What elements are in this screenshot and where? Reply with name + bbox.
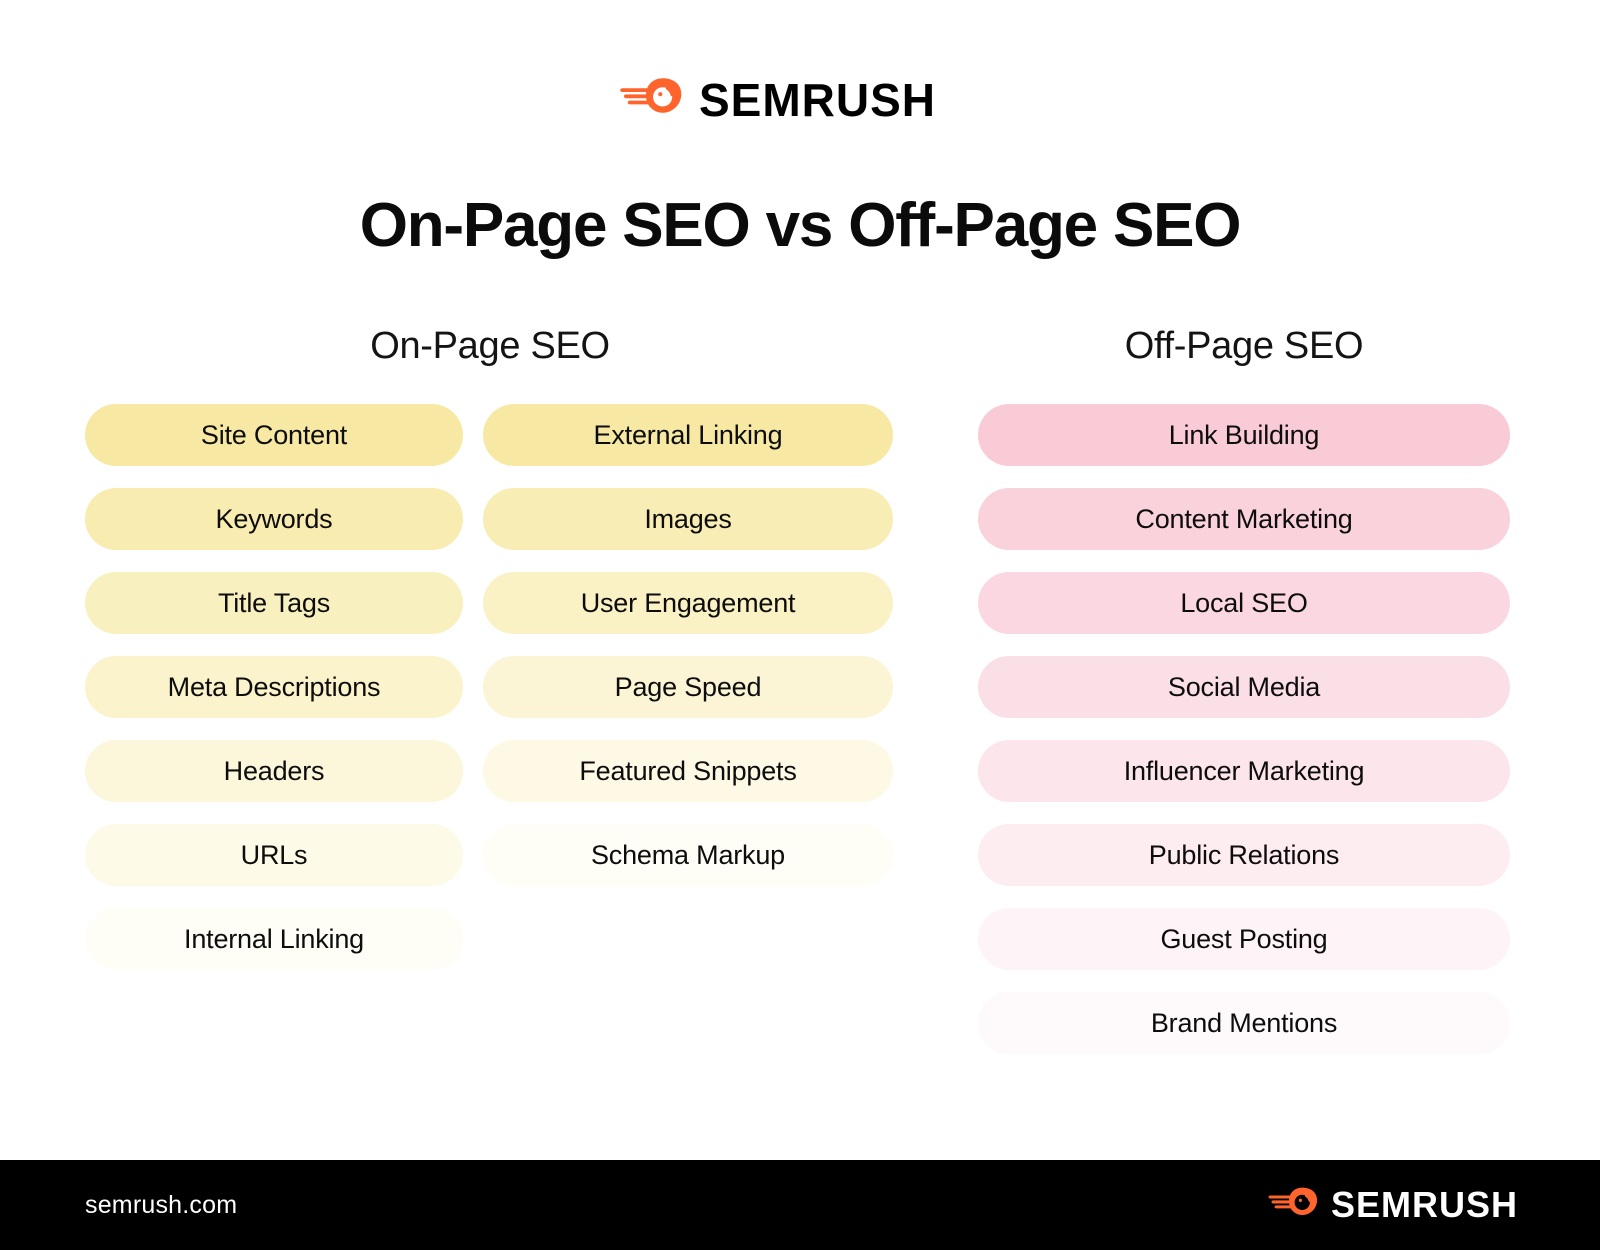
pill-label: Local SEO <box>1180 588 1307 619</box>
semrush-wordmark-header: SEMRUSH <box>699 77 936 123</box>
offpage-pill-column: Link BuildingContent MarketingLocal SEOS… <box>978 404 1510 1054</box>
pill-item: Page Speed <box>483 656 893 718</box>
pill-item: Title Tags <box>85 572 463 634</box>
pill-item: Public Relations <box>978 824 1510 886</box>
pill-label: Influencer Marketing <box>1124 756 1365 787</box>
pill-item: Guest Posting <box>978 908 1510 970</box>
pill-label: External Linking <box>594 420 783 451</box>
semrush-comet-icon <box>617 74 685 125</box>
pill-label: URLs <box>241 840 308 871</box>
pill-item: Keywords <box>85 488 463 550</box>
pill-label: Page Speed <box>615 672 762 703</box>
pill-item: URLs <box>85 824 463 886</box>
column-heading-onpage: On-Page SEO <box>85 325 895 368</box>
pill-label: Title Tags <box>218 588 330 619</box>
infographic-canvas: SEMRUSH On-Page SEO vs Off-Page SEO On-P… <box>0 0 1600 1250</box>
pill-label: Link Building <box>1169 420 1320 451</box>
pill-label: Images <box>644 504 731 535</box>
pill-label: Social Media <box>1168 672 1320 703</box>
pill-label: Internal Linking <box>184 924 364 955</box>
onpage-pill-column-right: External LinkingImagesUser EngagementPag… <box>483 404 893 886</box>
pill-item: Link Building <box>978 404 1510 466</box>
pill-item: Meta Descriptions <box>85 656 463 718</box>
pill-item: Headers <box>85 740 463 802</box>
semrush-wordmark-footer: SEMRUSH <box>1331 1187 1518 1223</box>
footer-url[interactable]: semrush.com <box>85 1191 237 1220</box>
pill-label: Featured Snippets <box>579 756 796 787</box>
pill-item: Brand Mentions <box>978 992 1510 1054</box>
pill-item: Images <box>483 488 893 550</box>
column-heading-offpage: Off-Page SEO <box>978 325 1510 368</box>
pill-label: Guest Posting <box>1161 924 1328 955</box>
semrush-logo-footer: SEMRUSH <box>1266 1184 1518 1226</box>
pill-item: Internal Linking <box>85 908 463 970</box>
footer-bar: semrush.com SEMRUSH <box>0 1160 1600 1250</box>
pill-item: Featured Snippets <box>483 740 893 802</box>
pill-label: Headers <box>224 756 325 787</box>
pill-item: Local SEO <box>978 572 1510 634</box>
pill-label: Content Marketing <box>1135 504 1352 535</box>
pill-label: Site Content <box>201 420 347 451</box>
pill-label: Schema Markup <box>591 840 785 871</box>
pill-item: Site Content <box>85 404 463 466</box>
pill-item: External Linking <box>483 404 893 466</box>
pill-label: Brand Mentions <box>1151 1008 1337 1039</box>
semrush-logo-header: SEMRUSH <box>617 74 936 125</box>
semrush-comet-icon <box>1266 1184 1320 1226</box>
pill-label: Meta Descriptions <box>168 672 381 703</box>
pill-item: Influencer Marketing <box>978 740 1510 802</box>
pill-item: Social Media <box>978 656 1510 718</box>
pill-label: Keywords <box>216 504 333 535</box>
pill-item: Schema Markup <box>483 824 893 886</box>
pill-item: User Engagement <box>483 572 893 634</box>
pill-label: Public Relations <box>1149 840 1339 871</box>
page-title: On-Page SEO vs Off-Page SEO <box>0 192 1600 260</box>
pill-item: Content Marketing <box>978 488 1510 550</box>
pill-label: User Engagement <box>581 588 796 619</box>
onpage-pill-column-left: Site ContentKeywordsTitle TagsMeta Descr… <box>85 404 463 970</box>
